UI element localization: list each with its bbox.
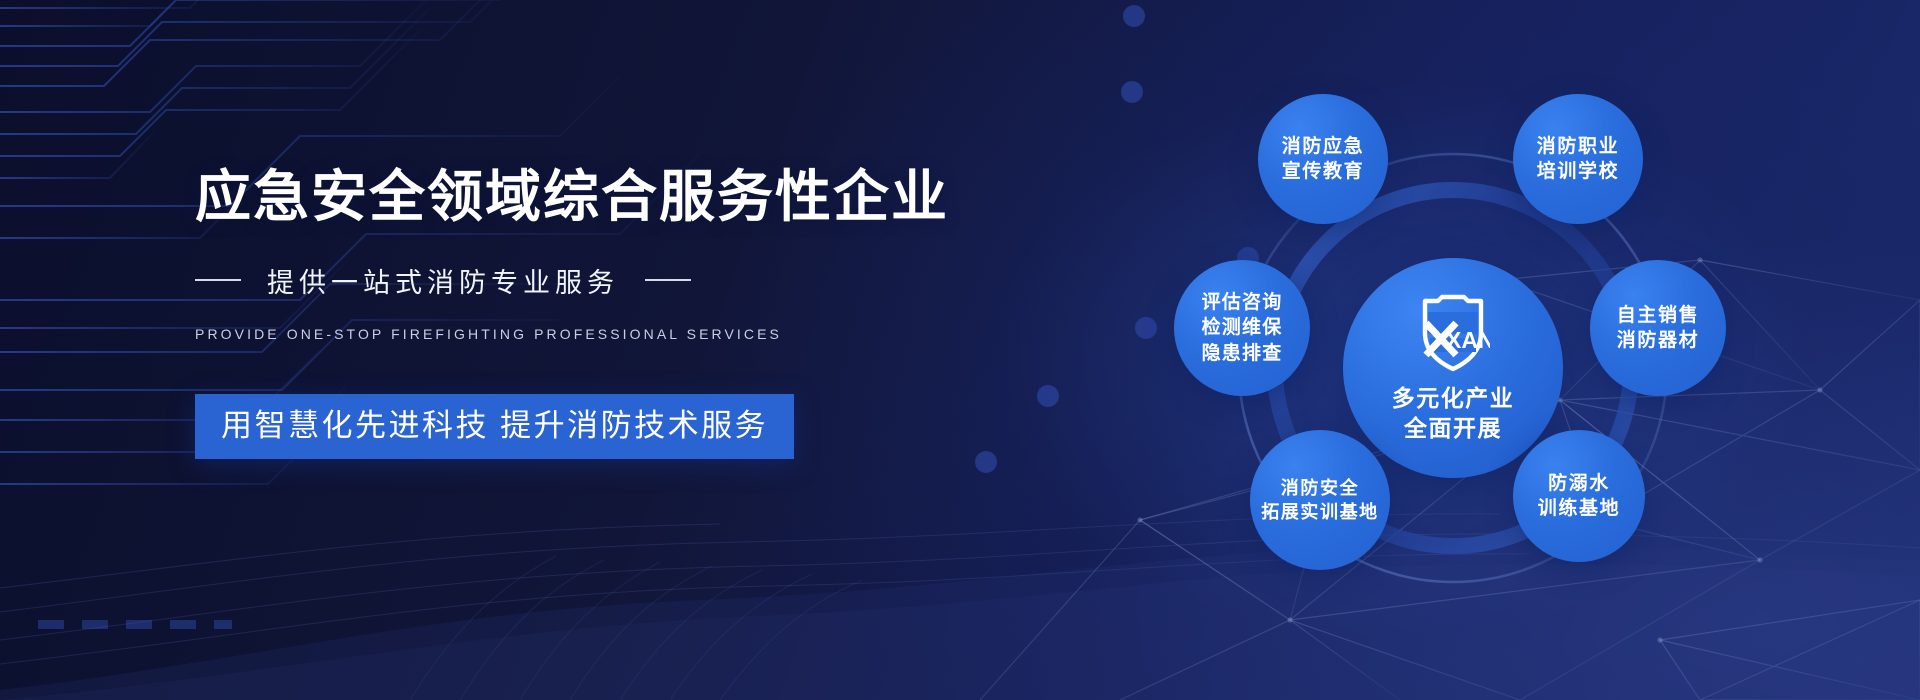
cta-button[interactable]: 用智慧化先进科技 提升消防技术服务 — [195, 394, 794, 459]
page-subtitle-english: PROVIDE ONE-STOP FIREFIGHTING PROFESSION… — [195, 326, 1015, 342]
diagram-node-emergency-education[interactable]: 消防应急 宣传教育 — [1258, 94, 1388, 224]
node-line-1: 自主销售 — [1617, 303, 1699, 328]
logo-wordmark: XAN — [1446, 327, 1490, 353]
center-line-1: 多元化产业 — [1392, 384, 1515, 414]
node-line-2: 宣传教育 — [1282, 159, 1364, 184]
diagram-node-training-school[interactable]: 消防职业 培训学校 — [1513, 94, 1643, 224]
dash-right-icon — [645, 279, 691, 281]
node-line-2: 培训学校 — [1537, 159, 1619, 184]
diagram-center-node[interactable]: XAN 多元化产业 全面开展 — [1343, 258, 1563, 478]
shield-icon: XAN — [1416, 293, 1490, 378]
node-line-1: 消防职业 — [1537, 134, 1619, 159]
node-line-2: 训练基地 — [1538, 496, 1620, 521]
node-line-3: 隐患排查 — [1202, 341, 1283, 366]
cta-button-label: 用智慧化先进科技 提升消防技术服务 — [221, 410, 768, 441]
node-line-1: 消防安全 — [1281, 476, 1359, 500]
dash-left-icon — [195, 279, 241, 281]
diagram-node-training-base[interactable]: 消防安全 拓展实训基地 — [1250, 430, 1390, 570]
node-line-1: 评估咨询 — [1202, 290, 1283, 315]
node-line-1: 防溺水 — [1548, 471, 1610, 496]
page-title: 应急安全领域综合服务性企业 — [195, 168, 1015, 227]
node-line-2: 检测维保 — [1202, 315, 1283, 340]
subtitle-row: 提供一站式消防专业服务 — [195, 261, 1015, 300]
diagram-node-assessment[interactable]: 评估咨询 检测维保 隐患排查 — [1174, 260, 1310, 396]
hero-banner: 应急安全领域综合服务性企业 提供一站式消防专业服务 PROVIDE ONE-ST… — [0, 0, 1920, 700]
diagram-node-equipment-sales[interactable]: 自主销售 消防器材 — [1590, 260, 1726, 396]
node-line-2: 消防器材 — [1617, 328, 1699, 353]
service-circle-diagram: XAN 多元化产业 全面开展 消防应急 宣传教育 消防职业 培训学校 评估咨询 … — [1128, 78, 1788, 638]
node-line-2: 拓展实训基地 — [1261, 500, 1379, 524]
page-subtitle: 提供一站式消防专业服务 — [267, 261, 619, 300]
node-line-1: 消防应急 — [1282, 134, 1364, 159]
diagram-node-anti-drowning[interactable]: 防溺水 训练基地 — [1513, 430, 1645, 562]
hero-text-block: 应急安全领域综合服务性企业 提供一站式消防专业服务 PROVIDE ONE-ST… — [195, 168, 1015, 459]
diagram-center-label: 多元化产业 全面开展 — [1392, 384, 1515, 444]
center-line-2: 全面开展 — [1392, 414, 1515, 444]
